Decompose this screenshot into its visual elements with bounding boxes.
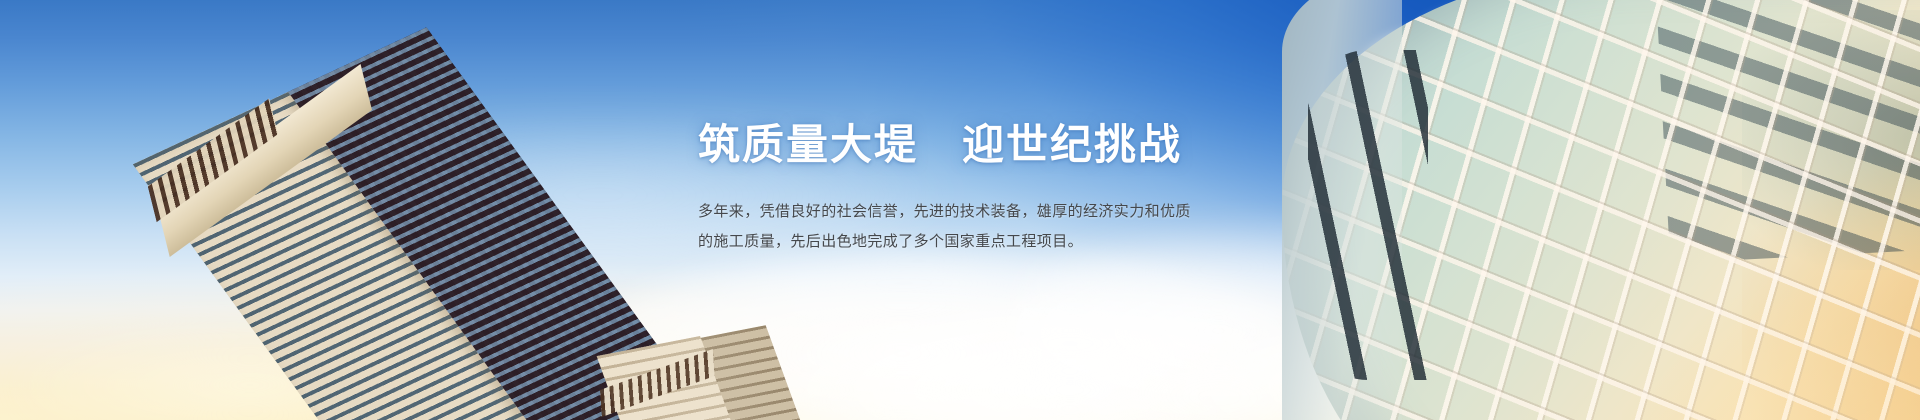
right-tower-rim-window-slots bbox=[1308, 50, 1428, 380]
banner-subcopy: 多年来，凭借良好的社会信誉，先进的技术装备，雄厚的经济实力和优质的施工质量，先后… bbox=[698, 196, 1198, 258]
banner-text-block: 筑质量大堤 迎世纪挑战 多年来，凭借良好的社会信誉，先进的技术装备，雄厚的经济实… bbox=[698, 120, 1318, 257]
right-tower-facade bbox=[1282, 0, 1920, 420]
right-glass-tower bbox=[1260, 0, 1920, 420]
secondary-office-tower bbox=[596, 336, 786, 420]
left-office-tower bbox=[120, 92, 640, 420]
hero-banner: 筑质量大堤 迎世纪挑战 多年来，凭借良好的社会信誉，先进的技术装备，雄厚的经济实… bbox=[0, 0, 1920, 420]
right-tower-sunlight-glow bbox=[1622, 270, 1920, 420]
banner-headline: 筑质量大堤 迎世纪挑战 bbox=[698, 120, 1318, 170]
